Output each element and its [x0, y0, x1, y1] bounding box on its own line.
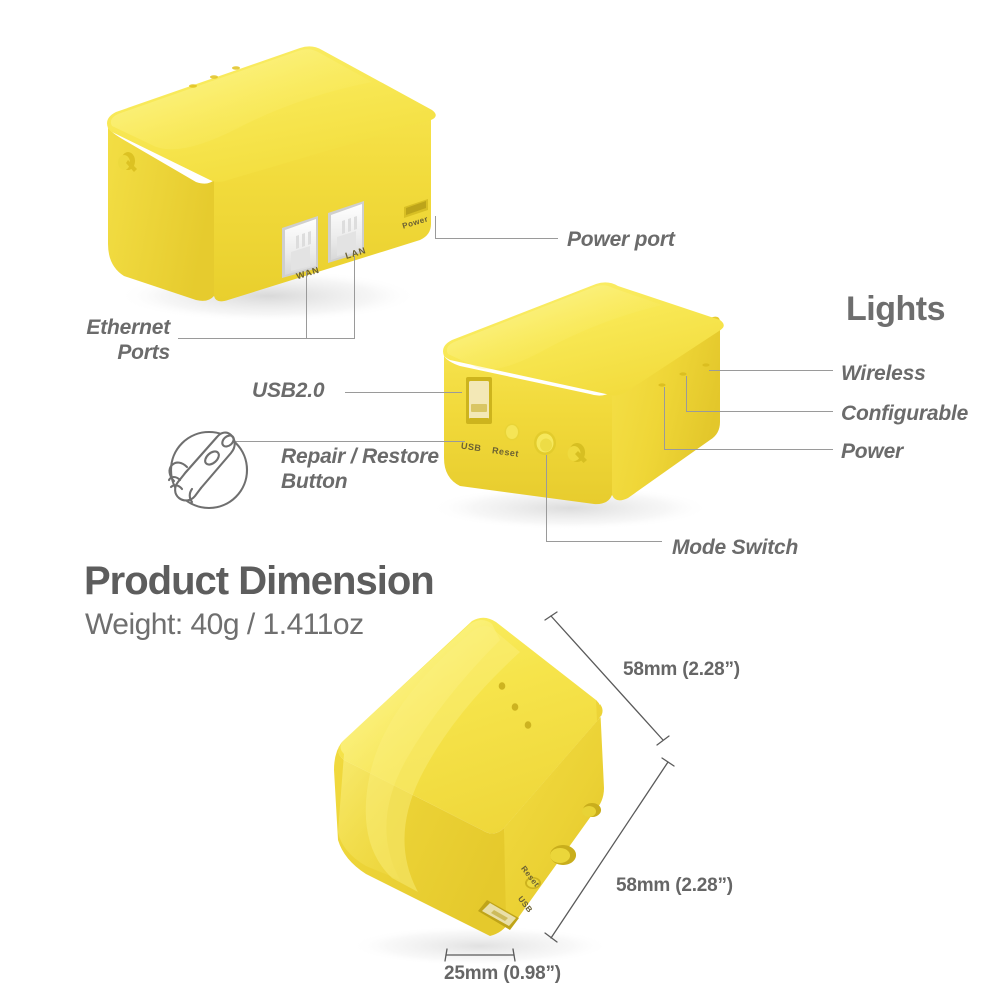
dimension-arrows: [0, 0, 1000, 1000]
dimension-depth-label: 58mm (2.28”): [623, 659, 740, 681]
product-diagram-canvas: WAN LAN Power Power port Ethernet Ports: [0, 0, 1000, 1000]
dimension-height-label: 25mm (0.98”): [444, 963, 561, 985]
dimension-width-label: 58mm (2.28”): [616, 875, 733, 897]
